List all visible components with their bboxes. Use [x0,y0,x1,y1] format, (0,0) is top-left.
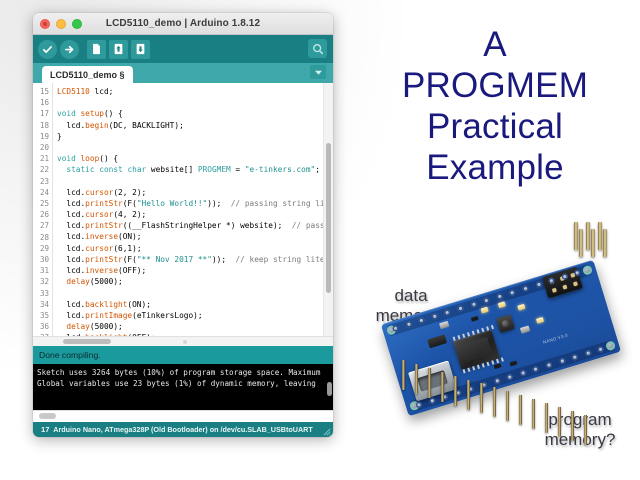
line-number: 19 [33,131,49,142]
code-line: LCD5110 lcd; [57,86,333,97]
chip-pin [463,369,466,373]
chip-pin [462,334,465,338]
traffic-lights [40,19,82,29]
chip-pin [481,328,484,332]
pin-leg [467,380,470,410]
sketch-tabstrip: LCD5110_demo § [33,63,333,83]
icsp-pin-post [574,222,578,250]
chip-pin [467,332,470,336]
editor-vertical-scrollbar-track[interactable] [323,83,333,336]
code-line: lcd.inverse(ON); [57,231,333,242]
icsp-pin [562,285,567,290]
line-number: 27 [33,220,49,231]
line-number: 20 [33,142,49,153]
arrow-down-icon [135,43,146,55]
code-editor[interactable]: 1516171819202122232425262728293031323334… [33,83,333,336]
page-title: A PROGMEM Practical Example [352,24,638,188]
ide-toolbar [33,35,333,63]
code-text[interactable]: LCD5110 lcd; void setup() { lcd.begin(DC… [53,83,333,336]
editor-horizontal-scrollbar-track[interactable] [33,336,333,346]
icsp-pin-post [586,222,590,250]
line-number: 21 [33,153,49,164]
arduino-ide-window: LCD5110_demo | Arduino 1.8.12 [33,13,333,437]
console-scrollbar-thumb[interactable] [327,382,332,396]
code-line [57,142,333,153]
serial-monitor-button[interactable] [308,39,327,58]
icsp-pin-posts [570,222,614,252]
line-number: 15 [33,86,49,97]
code-line: lcd.printImage(eTinkersLogo); [57,310,333,321]
chip-pin [467,368,470,372]
window-resize-grip-icon[interactable] [323,428,331,436]
code-line: lcd.backlight(ON); [57,299,333,310]
code-line: lcd.cursor(2, 2); [57,187,333,198]
line-number: 26 [33,209,49,220]
icsp-pin [552,288,557,293]
arrow-up-icon [113,43,124,55]
new-sketch-button[interactable] [87,40,106,59]
arduino-nano-board-image: NANO V3.0 [378,248,628,448]
line-number: 31 [33,265,49,276]
title-line-1: A [352,24,638,65]
line-number: 32 [33,276,49,287]
chip-pin [501,357,504,361]
maximize-window-button[interactable] [72,19,82,29]
chip-pin [486,326,489,330]
magnifier-icon [312,43,324,55]
editor-vertical-scrollbar-thumb[interactable] [326,143,331,293]
chevron-down-icon [314,69,323,76]
pin-leg [402,360,405,390]
console-output[interactable]: Sketch uses 3264 bytes (10%) of program … [33,364,333,410]
console-line: Sketch uses 3264 bytes (10%) of program … [37,367,333,378]
line-number: 17 [33,108,49,119]
line-number: 34 [33,299,49,310]
pin-leg [454,376,457,406]
line-number: 36 [33,321,49,332]
minimize-window-button[interactable] [56,19,66,29]
close-window-button[interactable] [40,19,50,29]
code-line: lcd.printStr((__FlashStringHelper *) web… [57,220,333,231]
pin-leg [545,403,548,433]
arrow-right-icon [63,43,76,56]
code-line: delay(5000); [57,276,333,287]
pin-leg [506,391,509,421]
pin-leg [571,411,574,441]
verify-button[interactable] [38,40,57,59]
pin-leg [532,399,535,429]
line-number: 24 [33,187,49,198]
board-port-info: Arduino Nano, ATmega328P (Old Bootloader… [33,425,333,434]
chip-pin [453,337,456,341]
code-line: void setup() { [57,108,333,119]
title-line-2: PROGMEM [352,65,638,106]
pin-leg [441,372,444,402]
code-line: } [57,131,333,142]
console-scroll-pill[interactable] [39,413,56,419]
line-number: 35 [33,310,49,321]
compile-status-bar: Done compiling. [33,346,333,364]
line-number: 33 [33,288,49,299]
ide-info-bar: 17 Arduino Nano, ATmega328P (Old Bootloa… [33,422,333,437]
pin-leg [415,364,418,394]
chip-pin [477,329,480,333]
editor-horizontal-scrollbar-thumb[interactable] [63,339,111,344]
code-line: lcd.begin(DC, BACKLIGHT); [57,120,333,131]
new-file-icon [91,43,102,55]
window-titlebar[interactable]: LCD5110_demo | Arduino 1.8.12 [33,13,333,35]
pin-leg [480,383,483,413]
title-line-3: Practical [352,106,638,147]
icsp-pin-post [591,229,595,257]
sketch-tab[interactable]: LCD5110_demo § [42,66,133,83]
icsp-pin-post [598,222,602,250]
chip-pin [472,331,475,335]
chip-pin [491,325,494,329]
chip-pin [486,362,489,366]
console-line: Global variables use 23 bytes (1%) of dy… [37,378,333,389]
chip-pin [482,363,485,367]
line-number: 28 [33,232,49,243]
pane-resize-grip[interactable] [183,340,187,344]
line-number: 29 [33,243,49,254]
save-sketch-button[interactable] [131,40,150,59]
chip-pin [457,335,460,339]
code-line: lcd.cursor(4, 2); [57,209,333,220]
tab-menu-button[interactable] [310,65,326,79]
chip-pin [477,365,480,369]
upload-button[interactable] [60,40,79,59]
code-line: lcd.inverse(OFF); [57,265,333,276]
code-line: lcd.cursor(6,1); [57,243,333,254]
code-line: lcd.printStr(F("** Nov 2017 **")); // ke… [57,254,333,265]
open-sketch-button[interactable] [109,40,128,59]
line-number: 25 [33,198,49,209]
pin-leg [584,415,587,445]
line-number-gutter: 1516171819202122232425262728293031323334… [33,83,53,336]
code-line: delay(5000); [57,321,333,332]
pin-leg [428,368,431,398]
compile-status-text: Done compiling. [39,350,101,360]
chip-pin [472,366,475,370]
pin-leg [558,407,561,437]
code-line [57,97,333,108]
line-number: 22 [33,164,49,175]
line-number: 30 [33,254,49,265]
icsp-pin [573,281,578,286]
title-line-4: Example [352,147,638,188]
line-number: 23 [33,176,49,187]
line-number: 16 [33,97,49,108]
pin-leg [493,387,496,417]
code-line [57,176,333,187]
code-line [57,287,333,298]
code-line: void loop() { [57,153,333,164]
console-bottom-strip [33,410,333,422]
line-number: 18 [33,120,49,131]
icsp-pin-post [579,229,583,257]
code-line: static const char website[] PROGMEM = "e… [57,164,333,175]
pin-leg [519,395,522,425]
icsp-pin-post [603,229,607,257]
code-line: lcd.printStr(F("Hello World!!")); // pas… [57,198,333,209]
checkmark-icon [41,43,54,56]
